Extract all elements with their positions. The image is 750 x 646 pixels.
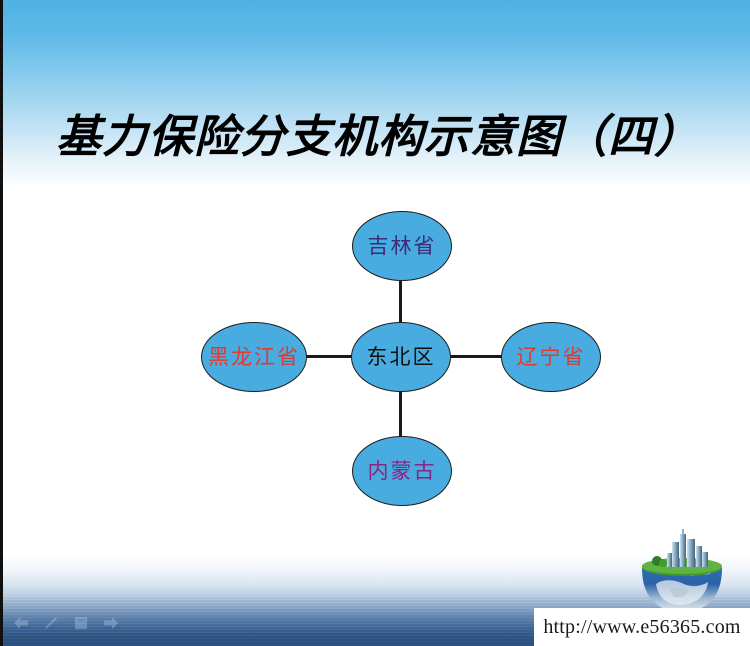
watermark-url-text: http://www.e56365.com <box>543 616 740 639</box>
page-icon[interactable] <box>71 614 91 632</box>
edge-center-to-left <box>304 355 353 358</box>
node-jilin-label: 吉林省 <box>368 236 437 257</box>
slide-canvas: 基力保险分支机构示意图（四） 吉林省 黑龙江省 东北区 辽宁省 内蒙古 <box>0 0 750 646</box>
edge-center-to-bottom <box>399 389 402 438</box>
node-liaoning[interactable]: 辽宁省 <box>501 322 601 392</box>
edge-center-to-top <box>399 279 402 325</box>
node-heilongjiang[interactable]: 黑龙江省 <box>201 322 307 392</box>
forward-arrow-icon[interactable] <box>101 614 121 632</box>
node-heilongjiang-label: 黑龙江省 <box>208 347 300 368</box>
node-jilin[interactable]: 吉林省 <box>352 211 452 281</box>
ghost-nav-icons <box>11 614 121 632</box>
node-liaoning-label: 辽宁省 <box>517 347 586 368</box>
node-inner-mongolia[interactable]: 内蒙古 <box>352 436 452 506</box>
node-inner-mongolia-label: 内蒙古 <box>368 461 437 482</box>
node-northeast-region[interactable]: 东北区 <box>351 322 451 392</box>
back-arrow-icon[interactable] <box>11 614 31 632</box>
eco-city-globe-logo <box>630 526 734 618</box>
watermark-url-box: http://www.e56365.com <box>534 608 750 646</box>
edge-center-to-right <box>449 355 503 358</box>
pen-icon[interactable] <box>41 614 61 632</box>
node-northeast-region-label: 东北区 <box>367 347 436 368</box>
